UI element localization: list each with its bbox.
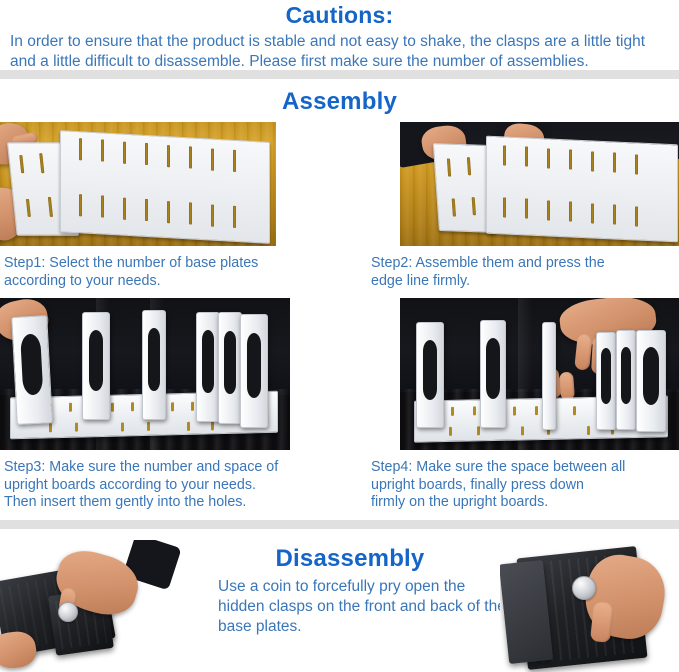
step2-photo [400,122,679,246]
step3-caption: Step3: Make sure the number and space of… [4,459,334,512]
disassembly-photo-left [0,540,200,672]
cautions-section: Cautions: In order to ensure that the pr… [0,0,679,72]
step4-photo [400,298,679,450]
instruction-sheet: Cautions: In order to ensure that the pr… [0,0,679,672]
divider-bottom [0,520,679,529]
disassembly-photo-right [500,540,679,672]
cautions-body: In order to ensure that the product is s… [0,28,679,72]
cautions-title: Cautions: [0,0,679,28]
step3-photo [0,298,290,450]
step1-photo [0,122,276,246]
disassembly-body: Use a coin to forcefully pry open the hi… [218,577,508,637]
step1-caption: Step1: Select the number of base plates … [4,255,334,290]
divider-top [0,70,679,79]
step2-caption: Step2: Assemble them and press the edge … [371,255,679,290]
assembly-title: Assembly [0,88,679,116]
step4-caption: Step4: Make sure the space between all u… [371,459,679,512]
disassembly-title: Disassembly [180,545,520,573]
